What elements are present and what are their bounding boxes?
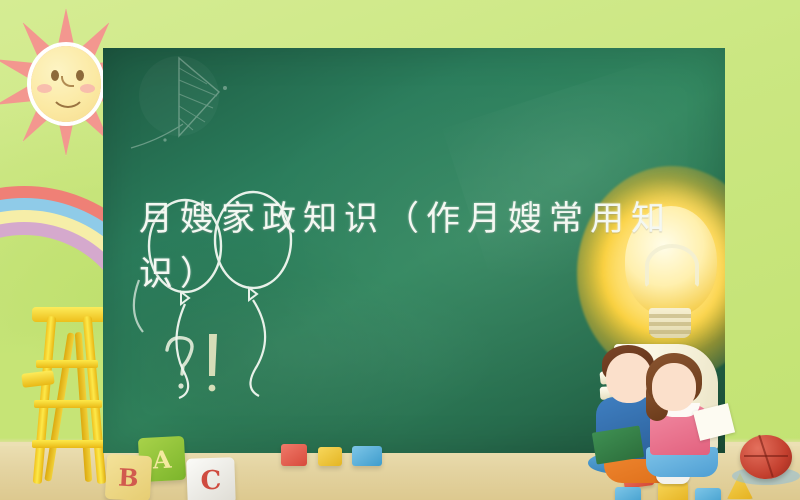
ball-icon: [740, 435, 792, 479]
small-block-blue: [352, 446, 382, 466]
chalkboard-title-text: 月嫂家政知识（作月嫂常用知识）: [139, 199, 672, 294]
small-block-red: [281, 444, 307, 466]
small-block-yellow: [318, 447, 342, 466]
alphabet-block-b: B: [105, 454, 152, 500]
children-illustration: [600, 325, 800, 500]
sun-eye-right: [76, 70, 84, 81]
sun-face: [31, 46, 101, 122]
ladder-step: [32, 440, 106, 448]
chalkboard-title: 月嫂家政知识（作月嫂常用知识）: [139, 192, 711, 302]
girl-head: [652, 363, 696, 411]
sun-smile: [50, 86, 86, 108]
alphabet-block-c: C: [186, 457, 236, 500]
sun-eye-left: [51, 70, 59, 81]
ladder-step: [34, 400, 102, 408]
ladder-top-plate: [32, 307, 106, 322]
fan-doodle-icon: [121, 48, 261, 164]
ladder-step: [36, 360, 98, 368]
poster-canvas: 月嫂家政知识（作月嫂常用知识） A B C: [0, 0, 800, 500]
